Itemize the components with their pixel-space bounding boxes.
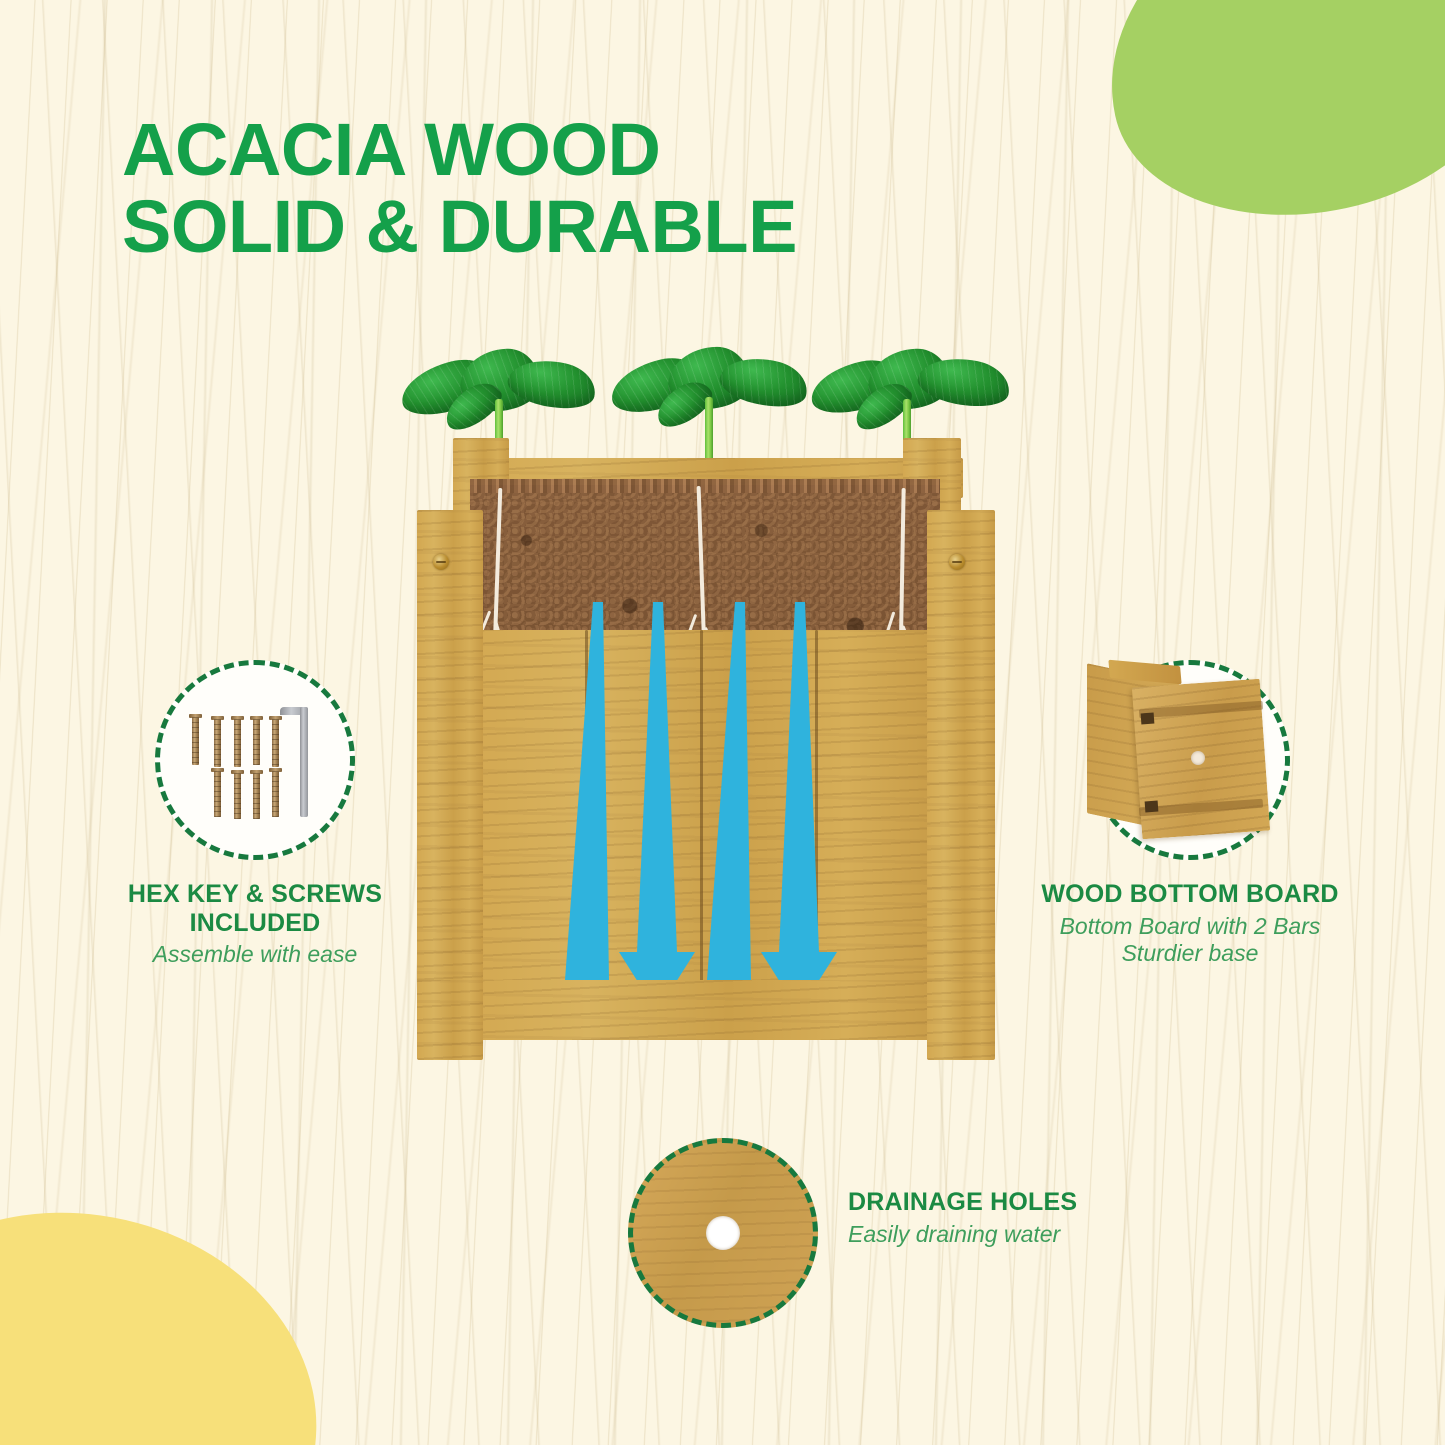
- screw-icon: [272, 771, 279, 817]
- planter-leg-left: [417, 980, 483, 1060]
- planter-bottom-rail: [470, 980, 940, 1040]
- plank-seam: [815, 630, 818, 990]
- feature-title: HEX KEY & SCREWS INCLUDED: [65, 880, 445, 937]
- soil-surface: [470, 479, 940, 493]
- plank-seam: [585, 630, 588, 990]
- screw-icon: [192, 717, 199, 765]
- feature-title: DRAINAGE HOLES: [848, 1188, 1168, 1217]
- feature-caption-hex-key-screws: HEX KEY & SCREWS INCLUDED Assemble with …: [65, 880, 445, 969]
- drainage-hole-icon: [706, 1216, 740, 1250]
- feature-title: WOOD BOTTOM BOARD: [1000, 880, 1380, 909]
- feature-subtitle: Assemble with ease: [65, 941, 445, 969]
- hex-key-screws-badge: [155, 660, 355, 860]
- top-right-green-blob: [1075, 0, 1445, 251]
- screw-left-upper: [433, 554, 449, 570]
- screw-icon: [234, 773, 241, 819]
- drainage-hole-badge: [628, 1138, 818, 1328]
- infographic-canvas: ACACIA WOOD SOLID & DURABLE: [0, 0, 1445, 1445]
- planter-leg-right: [927, 980, 995, 1060]
- planter-box-illustration: [395, 340, 1015, 1070]
- feature-subtitle: Bottom Board with 2 Bars Sturdier base: [1000, 913, 1380, 968]
- screw-icon: [272, 719, 279, 767]
- screw-icon: [214, 771, 221, 817]
- feature-caption-wood-bottom-board: WOOD BOTTOM BOARD Bottom Board with 2 Ba…: [1000, 880, 1380, 968]
- page-title: ACACIA WOOD SOLID & DURABLE: [122, 112, 797, 266]
- feature-caption-drainage-holes: DRAINAGE HOLES Easily draining water: [848, 1188, 1168, 1248]
- screw-icon: [253, 719, 260, 765]
- seedling-2: [610, 345, 810, 465]
- screw-right-upper: [949, 554, 965, 570]
- feature-subtitle: Easily draining water: [848, 1221, 1168, 1249]
- screw-icon: [234, 719, 241, 767]
- bottom-left-yellow-blob: [0, 1184, 343, 1445]
- wood-bottom-board-badge: [1090, 660, 1290, 860]
- bottom-board-drainage-hole-icon: [1191, 751, 1205, 765]
- planter-post-right: [927, 510, 995, 1050]
- screw-icon: [214, 719, 221, 767]
- plank-seam: [700, 630, 703, 990]
- bottom-board-notch-bottom: [1145, 801, 1159, 813]
- planter-post-left: [417, 510, 483, 1050]
- bottom-board-notch-top: [1141, 713, 1155, 725]
- screw-icon: [253, 773, 260, 819]
- hex-key-icon-shaft: [300, 707, 308, 817]
- planter-front-panel: [470, 630, 940, 1010]
